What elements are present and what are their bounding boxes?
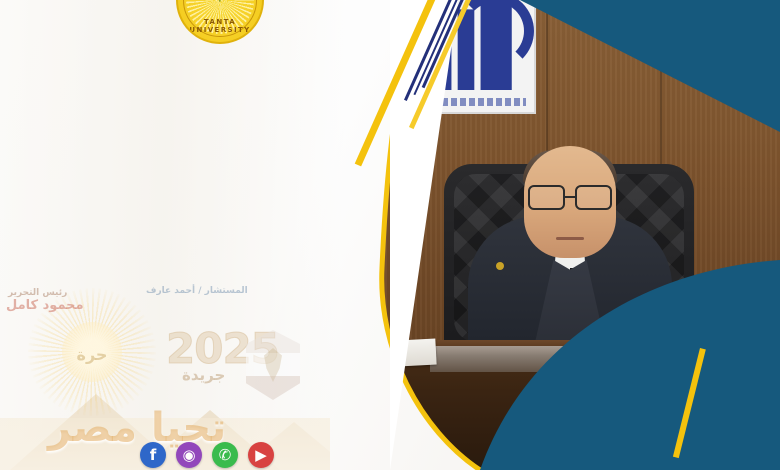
watermark-free-label: حرة — [68, 345, 116, 364]
egypt-emblem-inner-icon — [258, 348, 288, 382]
youtube-icon[interactable]: ▶ — [248, 442, 274, 468]
instagram-icon[interactable]: ◉ — [176, 442, 202, 468]
lens-left — [575, 185, 612, 210]
lens-right — [528, 185, 565, 210]
whatsapp-icon[interactable]: ✆ — [212, 442, 238, 468]
teal-lower-left-shape — [388, 350, 780, 470]
social-links-row[interactable]: f ◉ ✆ ▶ — [140, 442, 274, 468]
eyeglasses-icon — [528, 186, 612, 208]
person-mouth — [556, 237, 584, 240]
news-poster: حرة 2025 جريدة تحيا مصر f ◉ ✆ ▶ TANTA UN… — [0, 0, 780, 470]
glasses-bridge — [565, 196, 575, 198]
facebook-icon[interactable]: f — [140, 442, 166, 468]
watermark-newspaper-label: جريدة — [182, 366, 225, 384]
university-logo-arc-icon — [456, 0, 534, 70]
seal-text: TANTA UNIVERSITY — [178, 18, 262, 34]
